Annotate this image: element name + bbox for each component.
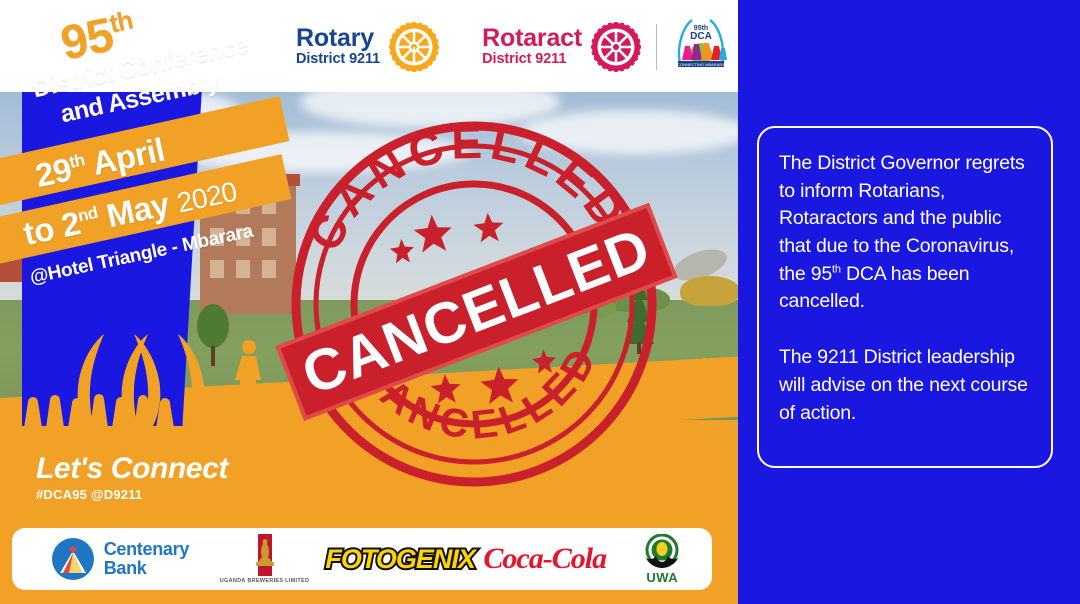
rotary-district: District 9211: [296, 52, 380, 67]
dca-logo-icon: 95th DCA CONNECTING MBARARA: [670, 14, 732, 74]
sponsor-coca-cola[interactable]: Coca-Cola: [477, 528, 613, 590]
notice-box: The District Governor regrets to inform …: [757, 126, 1053, 468]
dca-logo: 95th DCA CONNECTING MBARARA: [670, 14, 732, 79]
sponsor-uganda-breweries[interactable]: UGANDA BREWERIES LIMITED: [206, 528, 324, 590]
left-composite-card: Rotary District 9211: [0, 0, 738, 604]
people-silhouettes: [20, 388, 190, 428]
logo-divider: [656, 24, 657, 70]
rotaract-logo-text: Rotaract District 9211: [482, 26, 582, 66]
fotogenix-label: FOTOGENIX: [325, 544, 475, 575]
ubl-logo: [250, 534, 280, 576]
rotaract-name: Rotaract: [482, 26, 582, 52]
notice-panel: The District Governor regrets to inform …: [738, 0, 1080, 604]
ubl-caption: UGANDA BREWERIES LIMITED: [220, 578, 310, 584]
uwa-logo: [640, 534, 684, 574]
sponsor-strip: Centenary Bank UGANDA BREWERIES LIMITED …: [12, 528, 712, 590]
notice-paragraph-2: The 9211 District leadership will advise…: [779, 344, 1031, 427]
centenary-bank-text: Centenary Bank: [104, 540, 189, 578]
cancelled-stamp: CANCELLED CANCELLED CANCELLED: [275, 105, 672, 502]
centenary-line1: Centenary: [104, 540, 189, 559]
centenary-line2: Bank: [104, 559, 189, 578]
svg-text:CONNECTING MBARARA: CONNECTING MBARARA: [677, 62, 725, 67]
rotaract-district: District 9211: [482, 52, 582, 67]
hashtags: #DCA95 @D9211: [36, 487, 142, 502]
window: [262, 228, 276, 246]
lets-connect-heading: Let's Connect: [36, 452, 228, 486]
sponsor-uwa[interactable]: UWA: [613, 528, 712, 590]
window: [236, 260, 250, 278]
uwa-label: UWA: [646, 570, 678, 585]
cancellation-poster: Rotary District 9211: [0, 0, 1080, 604]
svg-text:DCA: DCA: [690, 31, 712, 42]
rotary-logo: Rotary District 9211: [296, 21, 440, 73]
coca-cola-label: Coca-Cola: [483, 542, 606, 576]
rotaract-logo: Rotaract District 9211: [482, 21, 642, 73]
window: [262, 260, 276, 278]
rotaract-wheel-icon: [590, 21, 642, 73]
shrub: [680, 276, 738, 306]
rotary-name: Rotary: [296, 26, 380, 52]
rotary-wheel-icon: [388, 21, 440, 73]
logo-row: Rotary District 9211: [296, 14, 732, 79]
rotary-logo-text: Rotary District 9211: [296, 26, 380, 66]
sponsor-centenary-bank[interactable]: Centenary Bank: [12, 528, 206, 590]
notice-paragraph-1: The District Governor regrets to inform …: [779, 150, 1031, 316]
centenary-bank-logo: [51, 537, 95, 581]
sponsor-fotogenix[interactable]: FOTOGENIX: [323, 528, 477, 590]
